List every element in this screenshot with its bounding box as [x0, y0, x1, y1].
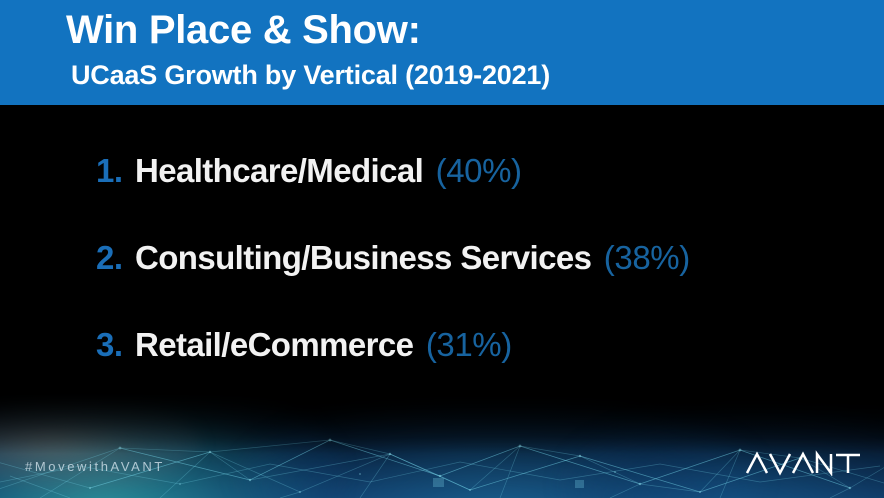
avant-logo-icon [746, 450, 862, 476]
rank-number: 1. [96, 152, 123, 189]
list-item: 3. Retail/eCommerce (31%) [96, 323, 512, 374]
rank-number: 2. [96, 239, 123, 276]
rank-percent: (31%) [426, 326, 512, 363]
rank-label: Healthcare/Medical [135, 152, 423, 189]
list-item: 2. Consulting/Business Services (38%) [96, 236, 690, 287]
slide: Win Place & Show: UCaaS Growth by Vertic… [0, 0, 884, 498]
page-title: Win Place & Show: [66, 6, 421, 54]
rank-label: Consulting/Business Services [135, 239, 591, 276]
page-subtitle: UCaaS Growth by Vertical (2019-2021) [71, 58, 550, 92]
footer-decoration: #MovewithAVANT [0, 388, 884, 498]
hashtag-text: #MovewithAVANT [25, 459, 165, 474]
header-banner: Win Place & Show: UCaaS Growth by Vertic… [0, 0, 884, 105]
rank-percent: (40%) [436, 152, 522, 189]
rank-label: Retail/eCommerce [135, 326, 413, 363]
network-graphic-icon [0, 388, 884, 498]
list-item: 1. Healthcare/Medical (40%) [96, 149, 522, 200]
rank-number: 3. [96, 326, 123, 363]
rank-percent: (38%) [604, 239, 690, 276]
avant-logo [746, 450, 862, 476]
